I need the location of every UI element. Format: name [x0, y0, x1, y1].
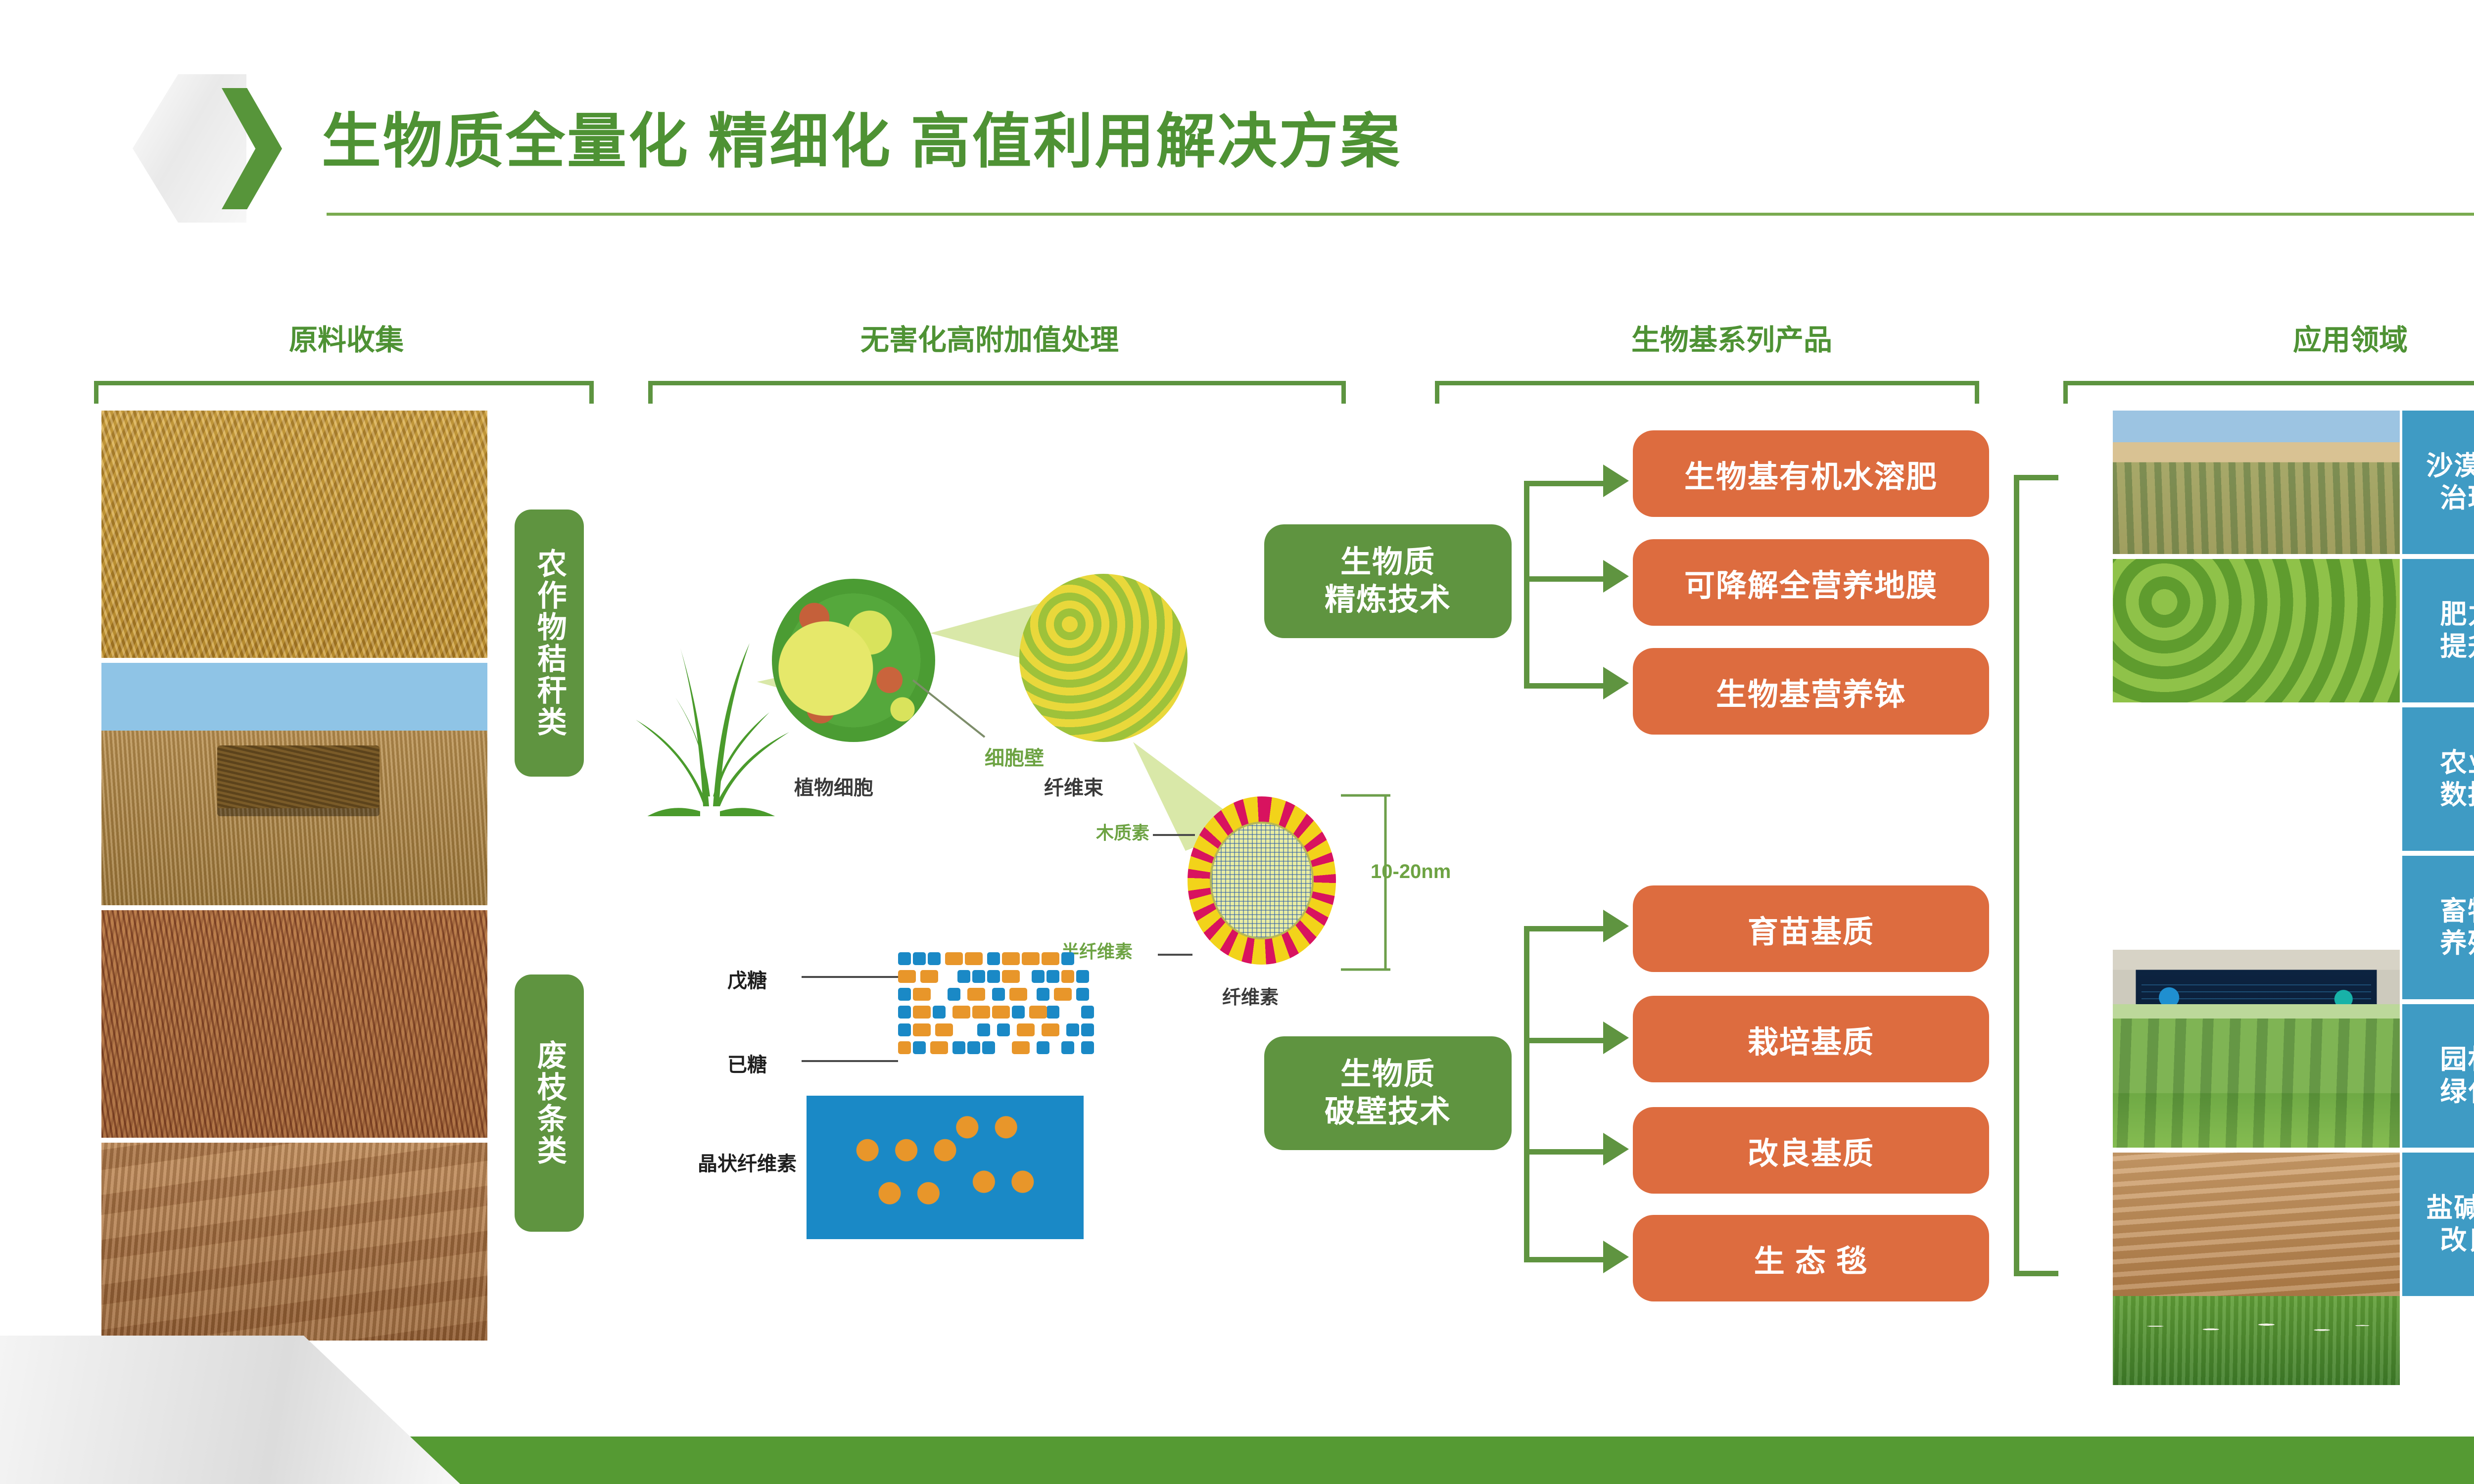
lignin-label: 木质素: [1096, 819, 1149, 844]
tech-refining-line1: 生物质: [1340, 544, 1435, 581]
photo-corn-stalk-field: [101, 411, 487, 658]
product-label: 栽培基质: [1748, 1017, 1874, 1062]
app-tag-agricultural-data[interactable]: 农业 数据: [2402, 707, 2474, 851]
section-bracket-applications: [2063, 381, 2474, 404]
product-label: 生物基营养钵: [1716, 669, 1906, 714]
fiber-bundle-illustration: [1019, 574, 1188, 742]
arrow-to-nutrient-pot: [1603, 667, 1629, 699]
product-label: 改良基质: [1748, 1128, 1874, 1173]
product-degradable-nutrient-mulch[interactable]: 可降解全营养地膜: [1633, 539, 1989, 626]
product-label: 可降解全营养地膜: [1684, 560, 1938, 605]
tech-biomass-refining[interactable]: 生物质 精炼技术: [1264, 524, 1512, 638]
product-seedling-substrate[interactable]: 育苗基质: [1633, 885, 1989, 972]
app-label-line2: 绿化: [2440, 1076, 2474, 1108]
infographic-canvas: 生物质全量化 精细化 高值利用解决方案 原料收集 无害化高附加值处理 生物基系列…: [0, 0, 2474, 1484]
pentose-leader-line: [802, 967, 901, 987]
section-header-products: 生物基系列产品: [1435, 317, 2029, 358]
photo-pruned-branches: [101, 910, 487, 1138]
app-tag-saline-alkali-improvement[interactable]: 盐碱地 改良: [2402, 1153, 2474, 1296]
app-label-line2: 数据: [2440, 779, 2474, 811]
photo-vineyard-pruning: [101, 1143, 487, 1341]
cellulose-label: 纤维素: [1222, 982, 1279, 1009]
app-label-line2: 提升: [2440, 631, 2474, 663]
app-tag-livestock-breeding[interactable]: 畜牧 养殖: [2402, 856, 2474, 999]
app-label-line1: 肥力: [2440, 599, 2474, 631]
tag-crop-straw-label: 农作物秸秆类: [534, 548, 565, 738]
photo-saline-land: [2113, 1153, 2400, 1296]
nanofiber-dimension-label: 10-20nm: [1371, 861, 1451, 883]
section-bracket-collection: [94, 381, 594, 404]
arrow-to-cultivation-substrate: [1603, 1021, 1629, 1054]
cell-wall-label: 细胞壁: [985, 742, 1044, 771]
arrow-to-improvement-substrate: [1603, 1133, 1629, 1165]
arrow-to-seedling-substrate: [1603, 910, 1629, 942]
hexose-label: 已糖: [727, 1049, 767, 1077]
tech-biomass-cellbreak[interactable]: 生物质 破壁技术: [1264, 1036, 1512, 1150]
app-label-line1: 盐碱地: [2426, 1192, 2474, 1224]
product-label: 生 态 毯: [1754, 1236, 1868, 1281]
cellulose-nanofiber-illustration: [1188, 796, 1336, 965]
photo-green-park: [2113, 1004, 2400, 1148]
app-label-line1: 园林: [2440, 1044, 2474, 1076]
product-improvement-substrate[interactable]: 改良基质: [1633, 1107, 1989, 1194]
sugar-chain-diagram: [898, 952, 1096, 1076]
section-bracket-products: [1435, 381, 1979, 404]
page-title: 生物质全量化 精细化 高值利用解决方案: [322, 93, 1402, 179]
product-cultivation-substrate[interactable]: 栽培基质: [1633, 996, 1989, 1082]
app-label-line2: 治理: [2440, 482, 2474, 514]
section-header-collection: 原料收集: [148, 317, 544, 358]
app-label-line1: 沙漠化: [2426, 450, 2474, 482]
plant-cell-label: 植物细胞: [794, 772, 873, 800]
section-header-applications: 应用领域: [2103, 317, 2474, 358]
cellulose-core: [1210, 822, 1314, 939]
tag-waste-branch-label: 废枝条类: [534, 1040, 565, 1166]
product-label: 育苗基质: [1748, 907, 1874, 951]
tech-cellbreak-line1: 生物质: [1340, 1056, 1435, 1093]
crystalline-cellulose-diagram: [807, 1096, 1084, 1239]
crystalline-cellulose-label: 晶状纤维素: [698, 1148, 797, 1176]
section-header-processing: 无害化高附加值处理: [643, 317, 1336, 358]
product-bio-nutrient-pot[interactable]: 生物基营养钵: [1633, 648, 1989, 735]
arrow-to-ecological-blanket: [1603, 1241, 1629, 1273]
nanofiber-dimension-line: [1336, 791, 1410, 974]
tag-waste-branch[interactable]: 废枝条类: [515, 974, 584, 1232]
photo-cabbage-field: [2113, 559, 2400, 702]
cell-wall-leader-line: [910, 678, 999, 747]
pentose-label: 戊糖: [727, 965, 767, 993]
app-label-line1: 农业: [2440, 747, 2474, 779]
tag-crop-straw[interactable]: 农作物秸秆类: [515, 510, 584, 777]
arrow-to-degradable-mulch: [1603, 560, 1629, 593]
app-tag-desertification-control[interactable]: 沙漠化 治理: [2402, 411, 2474, 554]
connector-products-applications: [2014, 475, 2058, 1276]
footer-decorative-wedge: [0, 1336, 460, 1484]
product-label: 生物基有机水溶肥: [1684, 452, 1938, 496]
photo-straw-bale-field: [101, 663, 487, 905]
tech-refining-line2: 精炼技术: [1325, 581, 1451, 619]
app-tag-fertility-improvement[interactable]: 肥力 提升: [2402, 559, 2474, 702]
product-ecological-blanket[interactable]: 生 态 毯: [1633, 1215, 1989, 1301]
fiber-bundle-label: 纤维束: [1044, 772, 1103, 800]
tech-cellbreak-line2: 破壁技术: [1325, 1093, 1451, 1131]
header-hex-badge: [133, 74, 276, 223]
section-bracket-processing: [648, 381, 1346, 404]
photo-desert-restoration: [2113, 411, 2400, 554]
app-label-line1: 畜牧: [2440, 895, 2474, 927]
app-label-line2: 改良: [2440, 1224, 2474, 1256]
hexose-leader-line: [802, 1051, 901, 1071]
arrow-to-water-soluble-fertilizer: [1603, 464, 1629, 497]
app-tag-landscape-greening[interactable]: 园林 绿化: [2402, 1004, 2474, 1148]
title-divider: [327, 213, 2474, 216]
product-bio-water-soluble-fertilizer[interactable]: 生物基有机水溶肥: [1633, 430, 1989, 517]
app-label-line2: 养殖: [2440, 927, 2474, 960]
